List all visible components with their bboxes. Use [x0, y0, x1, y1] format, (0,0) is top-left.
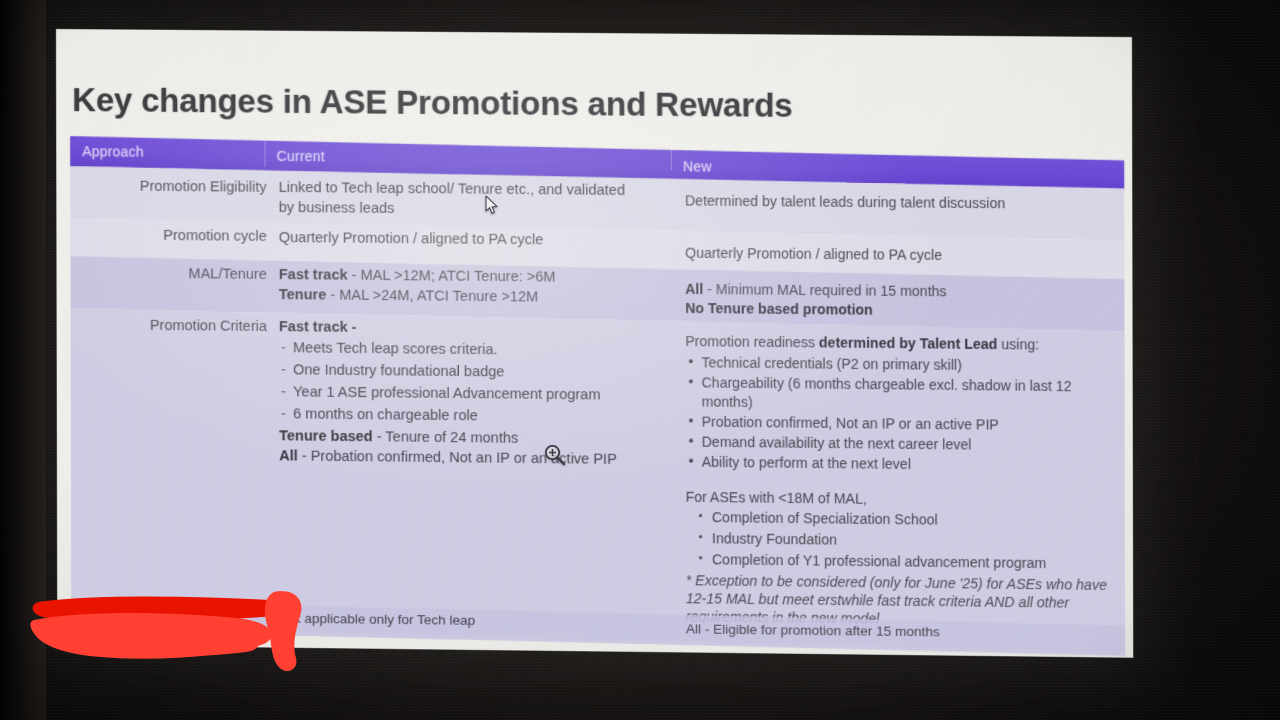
cell-text: - MAL >24M, ATCI Tenure >12M — [326, 288, 538, 306]
column-header-current: Current — [277, 148, 325, 164]
fast-track-label: Fast track - — [279, 317, 681, 341]
cell-current: Quarterly Promotion / aligned to PA cycl… — [279, 228, 681, 252]
page-title: Key changes in ASE Promotions and Reward… — [72, 81, 978, 126]
cell-text: using: — [997, 336, 1039, 353]
cell-approach: Promotion Criteria — [71, 317, 267, 335]
list-item: Year 1 ASE professional Advancement prog… — [293, 382, 681, 406]
emphasis: Fast track — [279, 267, 348, 284]
cell-line: by business leads — [279, 198, 681, 222]
magnifier-zoom-icon — [543, 443, 567, 467]
cell-line: Tenure - MAL >24M, ATCI Tenure >12M — [279, 285, 681, 309]
projected-slide: Key changes in ASE Promotions and Reward… — [56, 29, 1133, 658]
mouse-pointer-arrow-icon — [485, 195, 499, 215]
cell-text: Promotion readiness — [685, 333, 819, 350]
emphasis: determined by Talent Lead — [819, 334, 997, 352]
cell-current: Fast track - Meets Tech leap scores crit… — [279, 317, 682, 470]
cell-new: Promotion readiness determined by Talent… — [685, 332, 1119, 630]
table-row: Promotion Eligibility Linked to Tech lea… — [70, 166, 1124, 227]
emphasis: Tenure based — [279, 428, 373, 445]
emphasis: All — [279, 448, 298, 464]
cell-current: Fast track - MAL >12M; ATCI Tenure: >6M … — [279, 265, 681, 309]
column-header-approach: Approach — [82, 143, 144, 160]
cell-approach: Promotion Eligibility — [70, 178, 266, 196]
cell-text: - Probation confirmed, Not an IP or an a… — [298, 449, 617, 468]
ase-list: Completion of Specialization School Indu… — [712, 508, 1119, 574]
list-item: Completion of Specialization School — [712, 508, 1119, 532]
list-item: Ability to perform at the next level — [702, 453, 1119, 476]
table-row: Promotion Criteria Fast track - Meets Te… — [71, 308, 1126, 638]
all-line: All - Probation confirmed, Not an IP or … — [279, 446, 681, 470]
list-item: 6 months on chargeable role — [293, 404, 681, 428]
cell-text: - Tenure of 24 months — [373, 429, 519, 447]
list-item: Meets Tech leap scores criteria. — [293, 338, 681, 362]
cell-current: Linked to Tech leap school/ Tenure etc.,… — [279, 178, 681, 222]
readiness-list: Technical credentials (P2 on primary ski… — [685, 353, 1118, 476]
list-item: Chargeability (6 months chargeable excl.… — [702, 373, 1119, 415]
cell-approach: MAL/Tenure — [70, 265, 266, 283]
emphasis: All — [685, 281, 703, 297]
cell-approach: Promotion cycle — [70, 227, 266, 245]
readiness-line: Promotion readiness determined by Talent… — [685, 332, 1118, 355]
cell-text: - Minimum MAL required in 15 months — [703, 281, 946, 299]
header-divider-1 — [265, 139, 266, 167]
slide-surface: Key changes in ASE Promotions and Reward… — [56, 29, 1133, 658]
cell-new: Determined by talent leads during talent… — [685, 191, 1118, 214]
fast-track-list: Meets Tech leap scores criteria. One Ind… — [279, 338, 682, 428]
list-item: Completion of Y1 professional advancemen… — [712, 550, 1119, 574]
cell-text: - MAL >12M; ATCI Tenure: >6M — [348, 268, 556, 286]
list-item: One Industry foundational badge — [293, 360, 681, 384]
header-divider-2 — [671, 142, 672, 170]
comparison-table: Approach Current New Promotion Eligibili… — [70, 136, 1125, 642]
list-item: Industry Foundation — [712, 529, 1119, 553]
emphasis: Tenure — [279, 287, 326, 303]
wall-left-shadow — [0, 0, 46, 720]
